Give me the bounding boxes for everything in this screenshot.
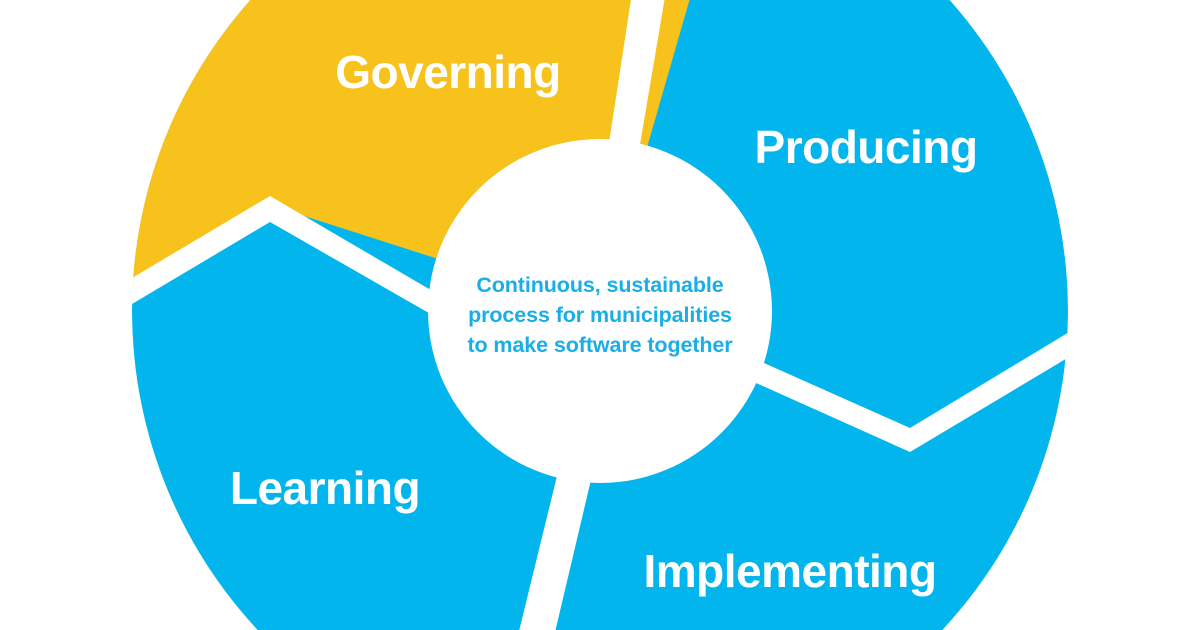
cycle-diagram: Governing Producing Implementing Learnin… <box>0 0 1200 630</box>
center-text-block: Continuous, sustainable process for muni… <box>467 273 733 357</box>
segment-label-producing: Producing <box>755 121 978 173</box>
segment-label-implementing: Implementing <box>643 545 936 597</box>
segment-label-governing: Governing <box>335 46 561 98</box>
cycle-diagram-svg: Governing Producing Implementing Learnin… <box>0 0 1200 630</box>
center-text-line-1: Continuous, sustainable <box>476 273 723 297</box>
segment-label-learning: Learning <box>230 462 420 514</box>
center-text-line-2: process for municipalities <box>468 303 732 327</box>
center-text-line-3: to make software together <box>467 333 733 357</box>
